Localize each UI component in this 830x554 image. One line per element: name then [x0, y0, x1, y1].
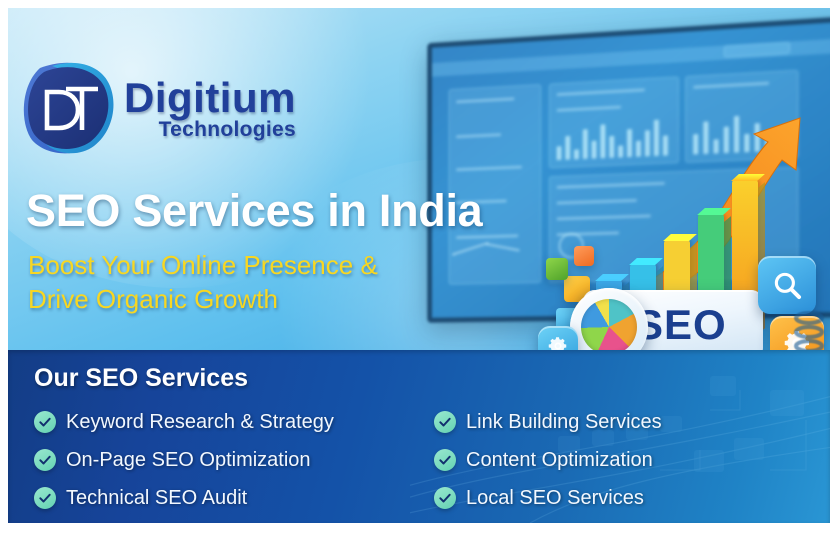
- service-label: Technical SEO Audit: [66, 487, 247, 510]
- list-item[interactable]: Link Building Services: [434, 403, 794, 441]
- decorative-cube: [574, 246, 594, 266]
- check-circle-icon: [434, 449, 456, 471]
- banner-canvas: SEO: [0, 0, 830, 554]
- check-circle-icon: [34, 411, 56, 433]
- check-circle-icon: [34, 487, 56, 509]
- brand-tagline: Technologies: [124, 118, 296, 142]
- list-item[interactable]: Local SEO Services: [434, 479, 794, 517]
- services-column-right: Link Building Services Content Optimizat…: [434, 403, 794, 517]
- check-circle-icon: [434, 411, 456, 433]
- list-item[interactable]: On-Page SEO Optimization: [34, 441, 434, 479]
- seo-plaque-text: SEO: [635, 300, 727, 350]
- brand-wordmark: Digitium Technologies: [124, 76, 296, 142]
- check-circle-icon: [34, 449, 56, 471]
- magnifier-icon: [770, 268, 804, 302]
- magnifier-tile-top: [758, 256, 816, 314]
- services-columns: Keyword Research & Strategy On-Page SEO …: [34, 403, 804, 517]
- hero-subheadline: Boost Your Online Presence & Drive Organ…: [28, 248, 378, 316]
- hero-subheadline-line1: Boost Your Online Presence &: [28, 248, 378, 282]
- artboard: SEO: [8, 8, 830, 523]
- services-band: Our SEO Services Keyword Research & Stra…: [8, 350, 830, 523]
- service-label: Link Building Services: [466, 411, 662, 434]
- dt-monogram-logo-icon: [18, 56, 122, 160]
- list-item[interactable]: Keyword Research & Strategy: [34, 403, 434, 441]
- brand-logo[interactable]: Digitium Technologies: [18, 56, 348, 168]
- decorative-cube: [546, 258, 568, 280]
- check-circle-icon: [434, 487, 456, 509]
- service-label: Keyword Research & Strategy: [66, 411, 334, 434]
- page-title: SEO Services in India: [26, 184, 482, 238]
- service-label: Local SEO Services: [466, 487, 644, 510]
- list-item[interactable]: Content Optimization: [434, 441, 794, 479]
- list-item[interactable]: Technical SEO Audit: [34, 479, 434, 517]
- service-label: Content Optimization: [466, 449, 653, 472]
- hero-subheadline-line2: Drive Organic Growth: [28, 282, 378, 316]
- services-column-left: Keyword Research & Strategy On-Page SEO …: [34, 403, 434, 517]
- services-title: Our SEO Services: [34, 364, 248, 393]
- service-label: On-Page SEO Optimization: [66, 449, 311, 472]
- brand-name: Digitium: [124, 76, 296, 120]
